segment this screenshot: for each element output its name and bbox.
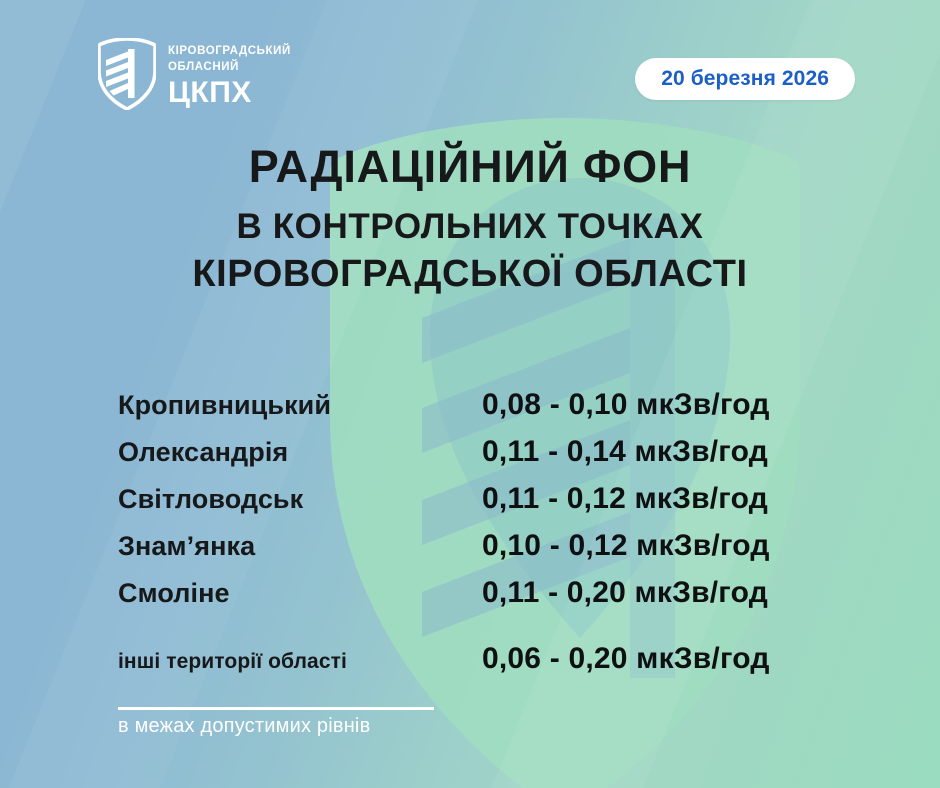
poster-canvas: КІРОВОГРАДСЬКИЙ ОБЛАСНИЙ ЦКПХ 20 березня… [0,0,940,788]
footer-note: в межах допустимих рівнів [118,715,370,738]
table-row: Смоліне 0,11 - 0,20 мкЗв/год [118,576,838,623]
footer-divider [118,707,434,710]
brand-logo: КІРОВОГРАДСЬКИЙ ОБЛАСНИЙ ЦКПХ [98,38,291,110]
table-row: Світловодськ 0,11 - 0,12 мкЗв/год [118,482,838,529]
table-row-other-territories: інші території області 0,06 - 0,20 мкЗв/… [118,642,838,688]
city-value: 0,11 - 0,20 мкЗв/год [482,576,838,610]
poster-header: КІРОВОГРАДСЬКИЙ ОБЛАСНИЙ ЦКПХ 20 березня… [0,0,940,130]
table-row: Знам’янка 0,10 - 0,12 мкЗв/год [118,529,838,576]
org-name-line1: КІРОВОГРАДСЬКИЙ [168,45,291,57]
title-line-2: В КОНТРОЛЬНИХ ТОЧКАХ [0,208,940,247]
city-value: 0,11 - 0,12 мкЗв/год [482,482,838,516]
city-label: Кропивницький [118,390,482,421]
table-row: Олександрія 0,11 - 0,14 мкЗв/год [118,435,838,482]
title-line-3: КІРОВОГРАДСЬКОЇ ОБЛАСТІ [0,254,940,296]
city-label: Олександрія [118,437,482,468]
other-territories-value: 0,06 - 0,20 мкЗв/год [482,642,838,676]
org-abbreviation: ЦКПХ [168,77,291,109]
table-row: Кропивницький 0,08 - 0,10 мкЗв/год [118,388,838,435]
city-label: Смоліне [118,578,482,609]
city-label: Знам’янка [118,531,482,562]
city-value: 0,08 - 0,10 мкЗв/год [482,388,838,422]
measurements-table: Кропивницький 0,08 - 0,10 мкЗв/год Олекс… [118,388,838,688]
date-badge-label: 20 березня 2026 [661,68,829,89]
shield-logo-icon [98,38,156,110]
date-badge: 20 березня 2026 [635,58,855,100]
other-territories-label: інші території області [118,650,482,674]
title-line-1: РАДІАЦІЙНИЙ ФОН [0,143,940,192]
city-value: 0,10 - 0,12 мкЗв/год [482,529,838,563]
page-title: РАДІАЦІЙНИЙ ФОН В КОНТРОЛЬНИХ ТОЧКАХ КІР… [0,143,940,296]
org-name-line2: ОБЛАСНИЙ [168,61,239,73]
city-value: 0,11 - 0,14 мкЗв/год [482,435,838,469]
city-label: Світловодськ [118,484,482,515]
